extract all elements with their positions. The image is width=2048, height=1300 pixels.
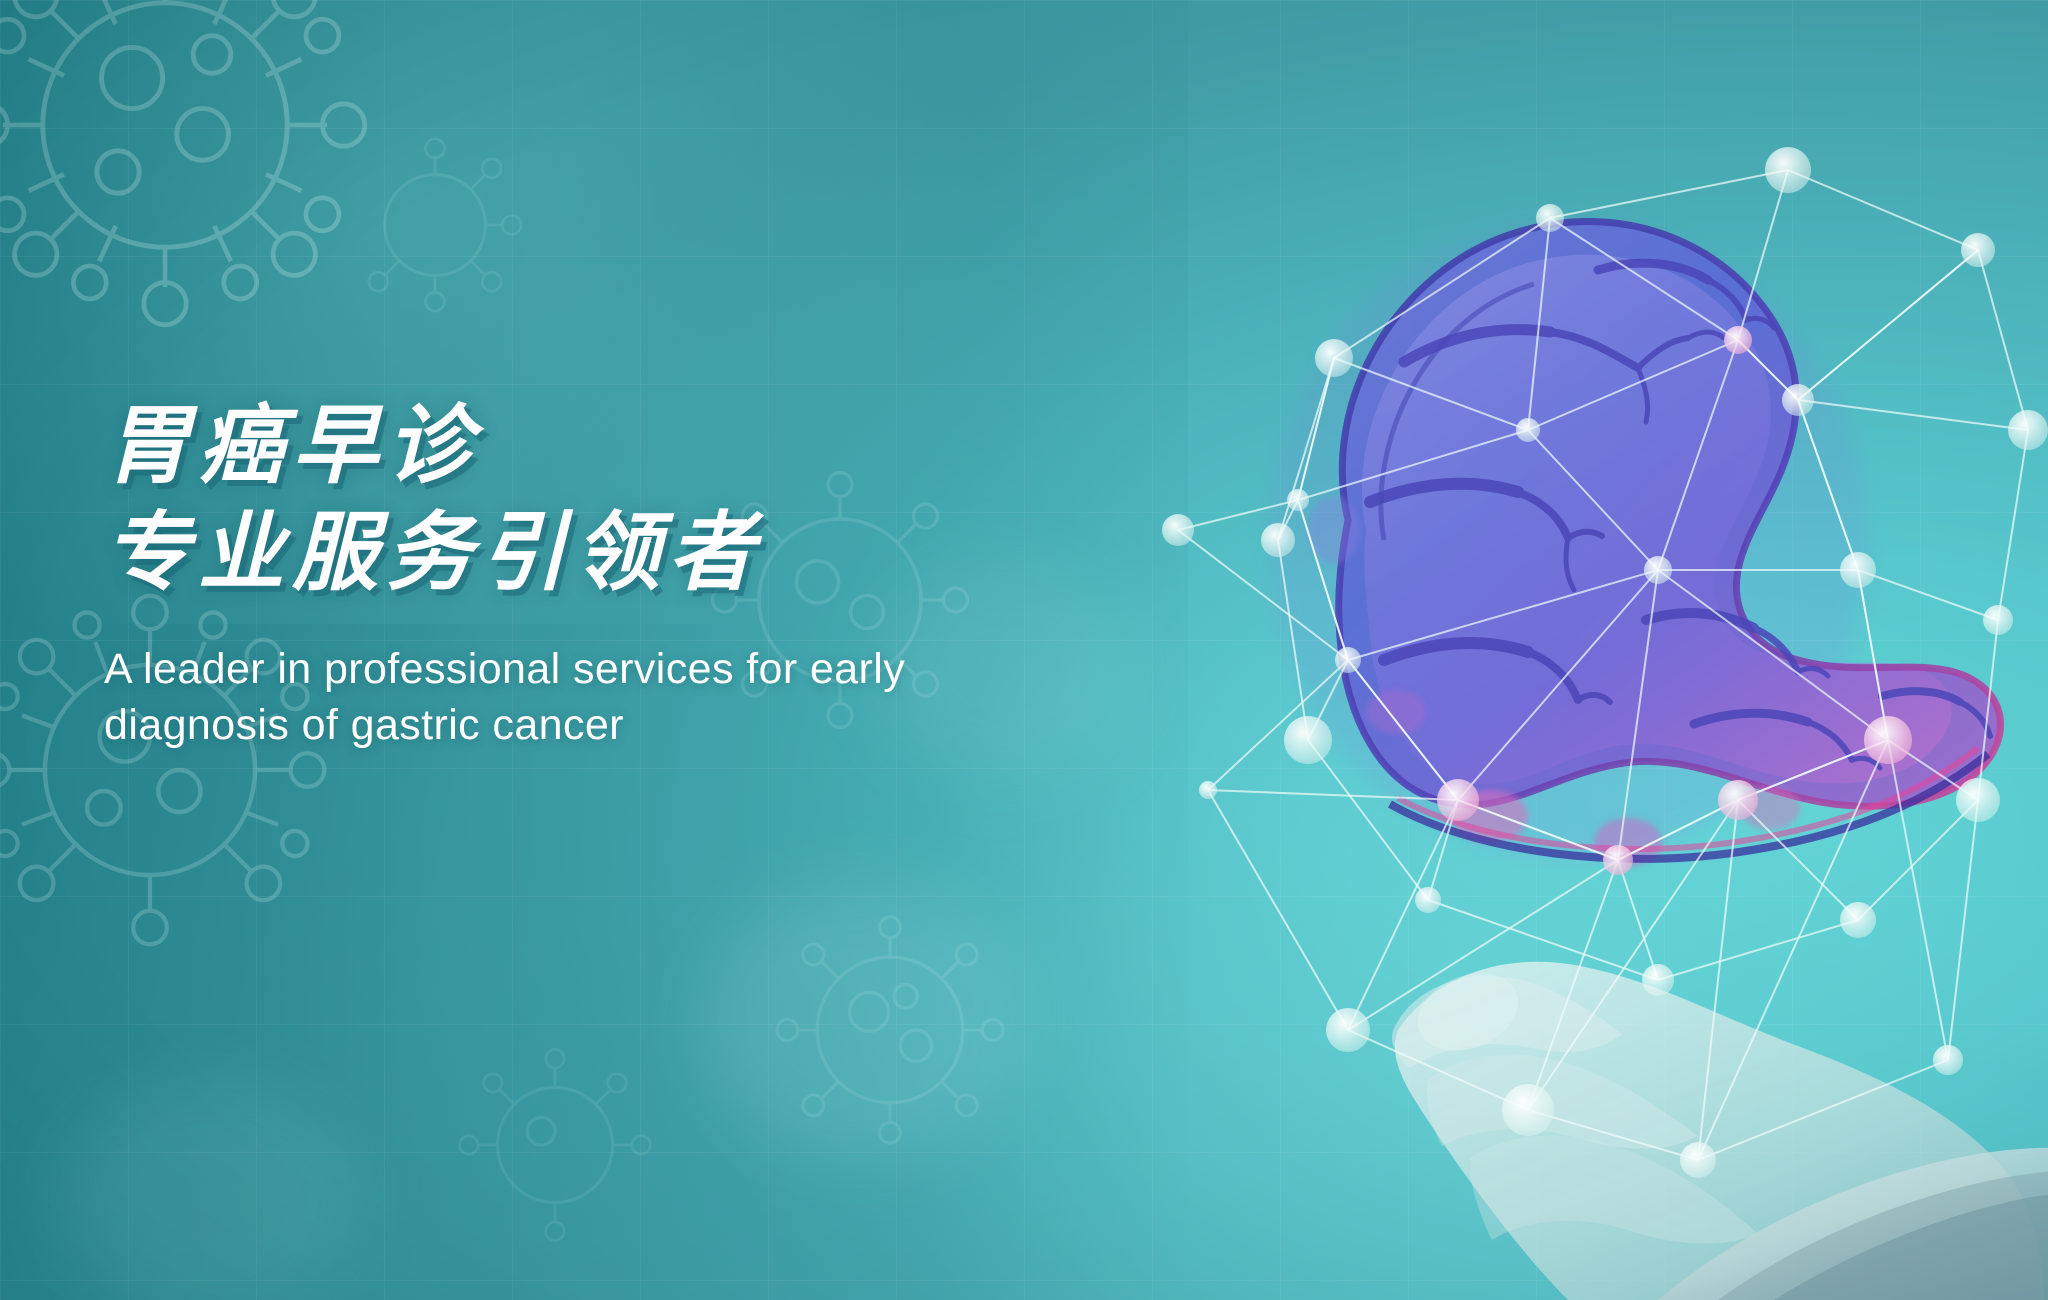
subheadline-line-2: diagnosis of gastric cancer <box>104 698 1114 754</box>
headline-line-2: 专业服务引领者 <box>104 507 1204 600</box>
promo-banner: 胃癌早诊 专业服务引领者 A leader in professional se… <box>0 0 2048 1300</box>
headline-line-1: 胃癌早诊 <box>104 400 1204 493</box>
subheadline: A leader in professional services for ea… <box>104 642 1114 754</box>
headline-block: 胃癌早诊 专业服务引领者 A leader in professional se… <box>104 400 1204 754</box>
subheadline-line-1: A leader in professional services for ea… <box>104 642 1114 698</box>
